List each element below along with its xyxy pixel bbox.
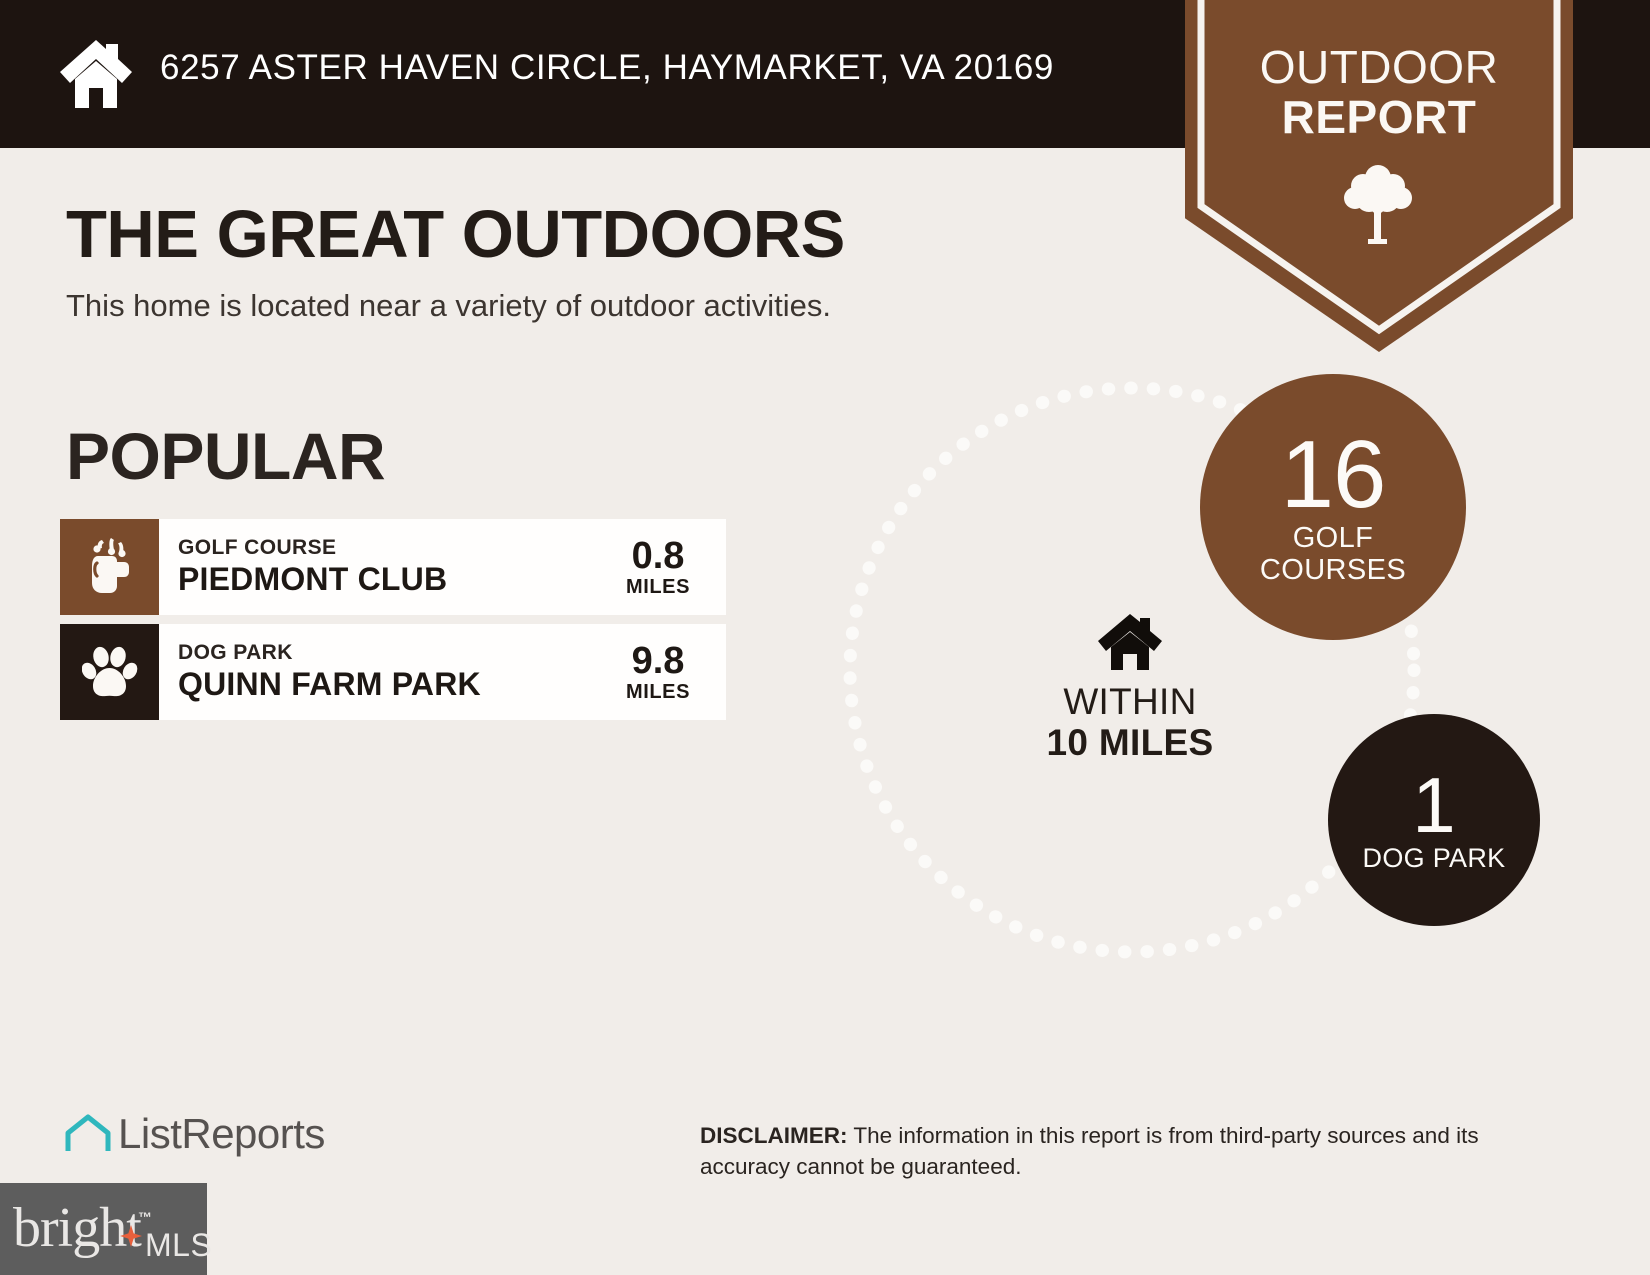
list-item[interactable]: DOG PARK QUINN FARM PARK 9.8 MILES [60, 624, 726, 720]
outdoor-report-page: 6257 ASTER HAVEN CIRCLE, HAYMARKET, VA 2… [0, 0, 1650, 1275]
listreports-wordmark: ListReports [118, 1110, 325, 1158]
list-item-distance-unit: MILES [626, 576, 690, 599]
list-item-name: PIEDMONT CLUB [178, 560, 604, 598]
disclaimer-label: DISCLAIMER: [700, 1123, 848, 1148]
tree-icon [1338, 162, 1418, 246]
badge-title-line1: OUTDOOR [1260, 41, 1499, 93]
stat-label-line1: GOLF [1293, 522, 1374, 554]
list-item-category: GOLF COURSE [178, 536, 604, 560]
trademark-symbol: ™ [138, 1209, 152, 1225]
stat-label: DOG PARK [1363, 843, 1506, 873]
radius-line2: 10 MILES [985, 722, 1275, 764]
radius-center-label: WITHIN 10 MILES [985, 612, 1275, 764]
mls-wordmark: MLS [145, 1227, 212, 1264]
radius-line1: WITHIN [985, 682, 1275, 722]
bright-mls-logo: bright ™ MLS [0, 1183, 207, 1275]
list-item-text: GOLF COURSE PIEDMONT CLUB [159, 519, 604, 615]
stat-label: GOLF COURSES [1260, 522, 1406, 586]
list-item-name: QUINN FARM PARK [178, 665, 604, 703]
popular-heading: POPULAR [66, 418, 385, 494]
badge-title-line2: REPORT [1185, 92, 1573, 142]
golf-bag-icon [84, 536, 136, 598]
paw-print-icon-tile [60, 624, 159, 720]
stat-bubble-golf-courses[interactable]: 16 GOLF COURSES [1200, 374, 1466, 640]
list-item-distance-unit: MILES [626, 681, 690, 704]
bright-wordmark: bright [13, 1197, 141, 1259]
house-outline-icon [62, 1111, 114, 1157]
badge-title: OUTDOOR REPORT [1185, 42, 1573, 142]
stat-label-line2: COURSES [1260, 554, 1406, 586]
stat-count: 1 [1412, 767, 1455, 843]
listreports-logo: ListReports [62, 1110, 325, 1158]
page-title: THE GREAT OUTDOORS [66, 196, 845, 273]
stat-bubble-dog-park[interactable]: 1 DOG PARK [1328, 714, 1540, 926]
list-item-distance: 0.8 MILES [604, 519, 726, 615]
stat-count: 16 [1281, 428, 1386, 522]
page-subtitle: This home is located near a variety of o… [66, 288, 831, 324]
list-item-text: DOG PARK QUINN FARM PARK [159, 624, 604, 720]
list-item-category: DOG PARK [178, 641, 604, 665]
list-item-distance: 9.8 MILES [604, 624, 726, 720]
list-item-distance-value: 9.8 [632, 641, 685, 681]
popular-list: GOLF COURSE PIEDMONT CLUB 0.8 MILES [60, 519, 726, 729]
property-address: 6257 ASTER HAVEN CIRCLE, HAYMARKET, VA 2… [160, 48, 1054, 88]
house-icon [58, 38, 134, 110]
disclaimer: DISCLAIMER: The information in this repo… [700, 1120, 1530, 1182]
golf-bag-icon-tile [60, 519, 159, 615]
list-item[interactable]: GOLF COURSE PIEDMONT CLUB 0.8 MILES [60, 519, 726, 615]
house-icon [1097, 612, 1163, 672]
paw-print-icon [82, 644, 138, 700]
list-item-distance-value: 0.8 [632, 536, 685, 576]
